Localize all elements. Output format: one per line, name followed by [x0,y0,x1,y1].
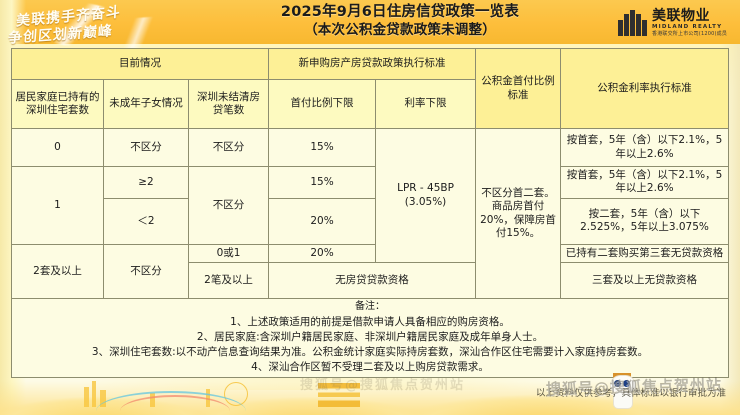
notes-block: 备注： 1、上述政策适用的前提是借款申请人具备相应的购房资格。 2、居民家庭:含… [12,299,729,377]
cell-minor-children: 不区分 [104,244,189,298]
group-header-current-situation: 目前情况 [12,49,269,80]
note-item: 1、上述政策适用的前提是借款申请人具备相应的购房资格。 [15,315,725,330]
subheader-downpayment-min: 首付比例下限 [269,80,376,129]
page-title: 2025年9月6日住房信贷政策一览表 （本次公积金贷款政策未调整） [190,3,610,40]
subheader-rate-min: 利率下限 [376,80,476,129]
cell-fund-rate: 三套及以上无贷款资格 [561,263,729,299]
note-item: 3、深圳住宅套数:以不动产信息查询结果为准。公积金统计家庭实际持房套数，深汕合作… [15,345,725,360]
brand-text: 美联物业 MIDLAND REALTY 香港联交所上市公司(1200)成员 [652,9,727,38]
footer-disclaimer: 以上资料仅供参考，具体标准以银行审批为准 [536,385,726,399]
cell-unsettled-loans: 不区分 [189,129,269,167]
brand-name-cn: 美联物业 [652,9,727,23]
cell-fund-rate: 按二套，5年（含）以下2.525%，5年以上3.075% [561,198,729,244]
brand-logo: 美联物业 MIDLAND REALTY 香港联交所上市公司(1200)成员 [618,3,734,43]
cell-downpayment-min: 无房贷贷款资格 [269,263,476,299]
cell-unsettled-loans: 2笔及以上 [189,263,269,299]
policy-table: 目前情况 新申购房产房贷款政策执行标准 公积金首付比例标准 公积金利率执行标准 … [11,48,729,378]
title-line-1: 2025年9月6日住房信贷政策一览表 [190,3,610,22]
subheader-unsettled-loans: 深圳未结清房贷笔数 [189,80,269,129]
table-row: 2套及以上 不区分 0或1 20% 已持有二套购买第三套无贷款资格 [12,244,729,262]
cell-fund-downpayment: 不区分首二套。商品房首付20%，保障房首付15%。 [476,129,561,299]
subheader-owned-units: 居民家庭已持有的深圳住宅套数 [12,80,104,129]
notes-row: 备注： 1、上述政策适用的前提是借款申请人具备相应的购房资格。 2、居民家庭:含… [12,299,729,377]
cell-owned-units: 1 [12,167,104,245]
cell-downpayment-min: 20% [269,198,376,244]
table-row: 1 ≥2 不区分 15% 按首套，5年（含）以下2.1%，5年以上2.6% [12,167,729,199]
cell-unsettled-loans: 不区分 [189,167,269,245]
cell-downpayment-min: 15% [269,129,376,167]
group-header-fund-downpayment: 公积金首付比例标准 [476,49,561,129]
table-row: 0 不区分 不区分 15% LPR - 45BP (3.05%) 不区分首二套。… [12,129,729,167]
rate-min-line-2: (3.05%) [405,196,447,208]
cell-fund-rate: 按首套，5年（含）以下2.1%，5年以上2.6% [561,167,729,199]
cell-minor-children: 不区分 [104,129,189,167]
cell-owned-units: 2套及以上 [12,244,104,298]
midland-mark-icon [618,10,648,36]
brand-name-en: MIDLAND REALTY [652,25,727,31]
note-item: 4、深汕合作区暂不受理二套及以上购房贷款需求。 [15,360,725,375]
cell-owned-units: 0 [12,129,104,167]
group-header-fund-rate: 公积金利率执行标准 [561,49,729,129]
policy-table-infographic: 美联携手齐奋斗 争创区划新巅峰 2025年9月6日住房信贷政策一览表 （本次公积… [0,0,740,415]
subheader-minor-children: 未成年子女情况 [104,80,189,129]
title-line-2: （本次公积金贷款政策未调整） [190,22,610,40]
table-header-row-group: 目前情况 新申购房产房贷款政策执行标准 公积金首付比例标准 公积金利率执行标准 [12,49,729,80]
cell-unsettled-loans: 0或1 [189,244,269,262]
rate-min-line-1: LPR - 45BP [397,182,454,194]
cell-rate-min: LPR - 45BP (3.05%) [376,129,476,263]
brand-subtitle: 香港联交所上市公司(1200)成员 [652,32,727,37]
note-item: 2、居民家庭:含深圳户籍居民家庭、非深圳户籍居民家庭及成年单身人士。 [15,330,725,345]
cell-fund-rate: 按首套，5年（含）以下2.1%，5年以上2.6% [561,129,729,167]
cell-downpayment-min: 15% [269,167,376,199]
table-row: ＜2 20% 按二套，5年（含）以下2.525%，5年以上3.075% [12,198,729,244]
notes-heading: 备注： [15,301,725,314]
cell-fund-rate: 已持有二套购买第三套无贷款资格 [561,244,729,262]
cell-minor-children: ≥2 [104,167,189,199]
cell-downpayment-min: 20% [269,244,376,262]
group-header-new-mortgage: 新申购房产房贷款政策执行标准 [269,49,476,80]
cell-minor-children: ＜2 [104,198,189,244]
